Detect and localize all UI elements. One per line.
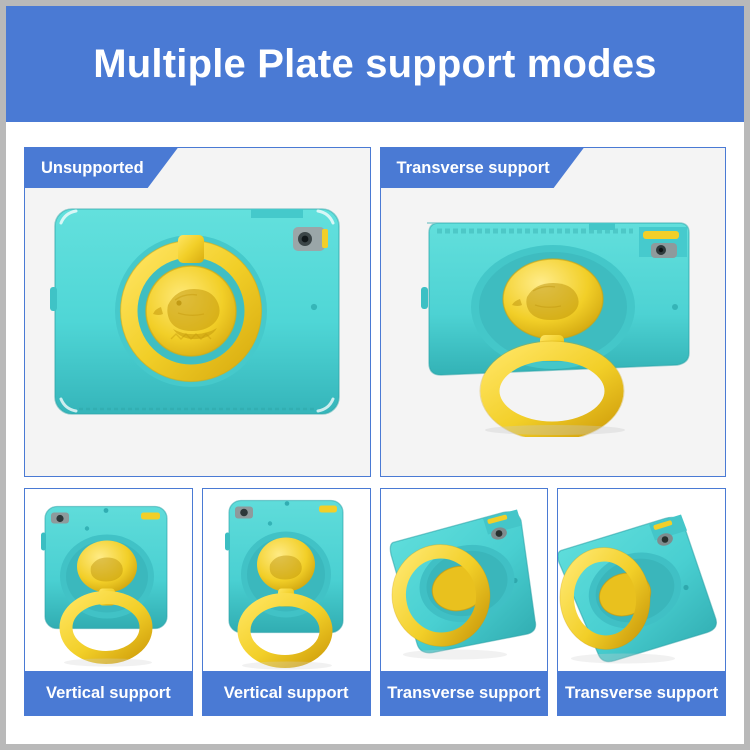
infographic-page: Multiple Plate support modes Unsupported	[0, 0, 750, 750]
panel-caption: Vertical support	[203, 671, 370, 715]
panel-transverse-support-main[interactable]: Transverse support	[380, 147, 727, 477]
header-banner: Multiple Plate support modes	[6, 6, 744, 122]
panel-grid: Unsupported	[12, 128, 738, 738]
tablet-case-portrait-stand-icon	[25, 489, 192, 671]
tablet-case-ring-kickstand-icon	[381, 148, 726, 476]
tablet-case-portrait-stand-icon	[203, 489, 370, 671]
panel-transverse-support-2[interactable]: Transverse support	[557, 488, 726, 716]
panel-tab-transverse-support: Transverse support	[381, 148, 584, 188]
panel-vertical-support-1[interactable]: Vertical support	[24, 488, 193, 716]
panel-vertical-support-2[interactable]: Vertical support	[202, 488, 371, 716]
panel-row-bottom: Vertical support	[24, 488, 726, 716]
tablet-case-ring-folded-icon	[25, 148, 370, 476]
tablet-case-angled-stand-icon	[381, 489, 548, 671]
panel-caption: Vertical support	[25, 671, 192, 715]
page-title: Multiple Plate support modes	[93, 44, 656, 84]
panel-row-top: Unsupported	[24, 147, 726, 477]
panel-unsupported[interactable]: Unsupported	[24, 147, 371, 477]
panel-tab-label: Transverse support	[397, 159, 550, 178]
panel-transverse-support-1[interactable]: Transverse support	[380, 488, 549, 716]
panel-caption: Transverse support	[558, 671, 725, 715]
panel-caption: Transverse support	[381, 671, 548, 715]
panel-tab-label: Unsupported	[41, 159, 144, 178]
tablet-case-angled-stand-icon	[558, 489, 725, 671]
